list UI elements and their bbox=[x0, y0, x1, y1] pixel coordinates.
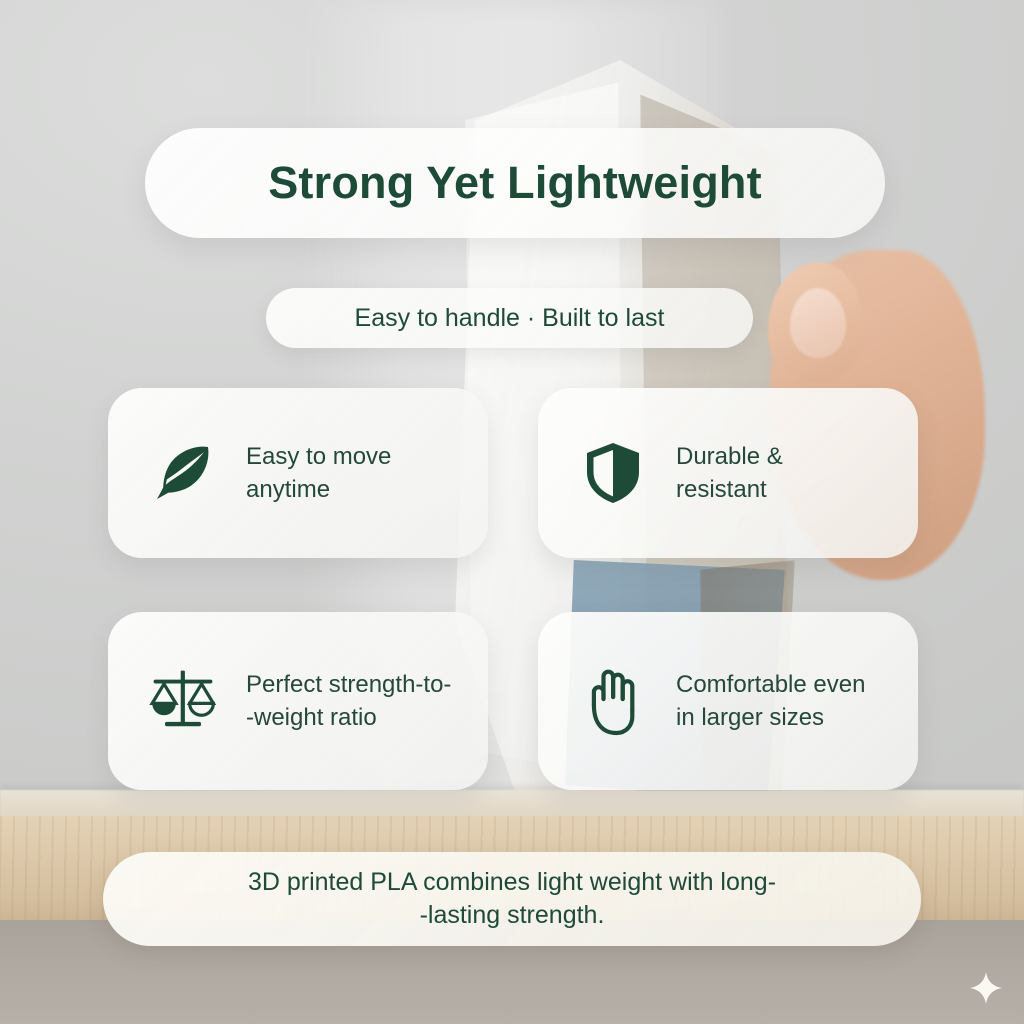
feature-label: Comfortable even in larger sizes bbox=[676, 668, 918, 734]
open-hand-icon bbox=[576, 664, 650, 738]
page-subtitle: Easy to handle · Built to last bbox=[355, 304, 665, 333]
feature-card-easy-to-move[interactable]: Easy to move anytime bbox=[108, 388, 488, 558]
feature-label: Durable & resistant bbox=[676, 440, 783, 506]
balance-scale-icon bbox=[146, 664, 220, 738]
feather-icon bbox=[146, 436, 220, 510]
hand-thumbnail bbox=[790, 288, 846, 358]
title-pill: Strong Yet Lightweight bbox=[145, 128, 885, 238]
infographic-canvas: Strong Yet Lightweight Easy to handle · … bbox=[0, 0, 1024, 1024]
subtitle-pill: Easy to handle · Built to last bbox=[266, 288, 753, 348]
feature-label: Easy to move anytime bbox=[246, 440, 391, 506]
feature-card-strength-to-weight[interactable]: Perfect strength-to- -weight ratio bbox=[108, 612, 488, 790]
shield-icon bbox=[576, 436, 650, 510]
feature-card-durable[interactable]: Durable & resistant bbox=[538, 388, 918, 558]
summary-banner: 3D printed PLA combines light weight wit… bbox=[103, 852, 921, 946]
feature-label: Perfect strength-to- -weight ratio bbox=[246, 668, 488, 734]
feature-card-comfortable[interactable]: Comfortable even in larger sizes bbox=[538, 612, 918, 790]
page-title: Strong Yet Lightweight bbox=[268, 157, 762, 209]
summary-text: 3D printed PLA combines light weight wit… bbox=[248, 866, 776, 933]
sparkle-icon bbox=[968, 970, 1004, 1006]
